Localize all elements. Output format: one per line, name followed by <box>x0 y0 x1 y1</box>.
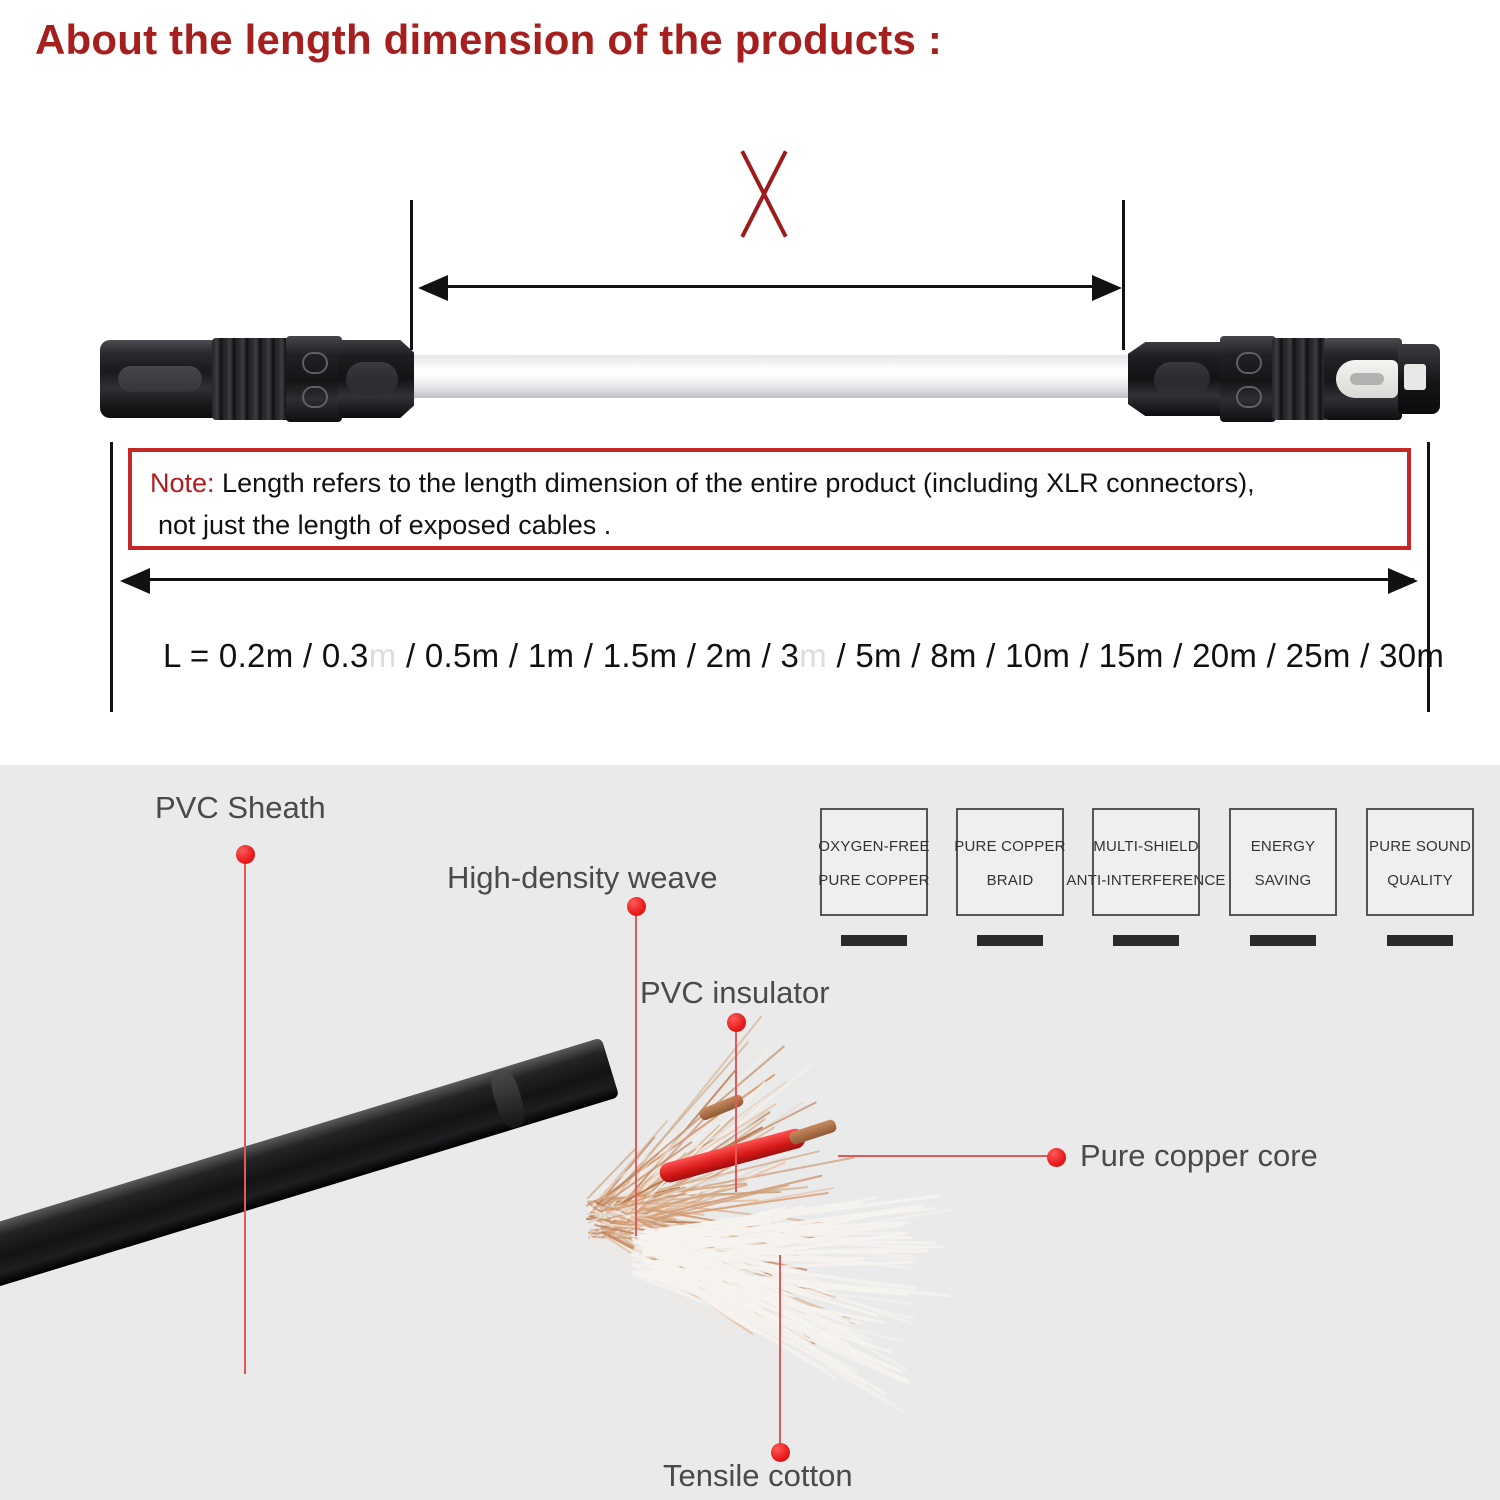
total-measure-arrow-line <box>128 578 1414 581</box>
xlr-male-connector <box>100 334 410 424</box>
note-line-1-text: Length refers to the length dimension of… <box>215 468 1255 498</box>
badge-line-2: PURE COPPER <box>818 872 929 889</box>
cable-body <box>395 355 1155 398</box>
pvc-jacket <box>0 1038 619 1296</box>
feature-badge-1: OXYGEN-FREEPURE COPPER <box>820 808 928 916</box>
badge-line-1: OXYGEN-FREE <box>818 838 929 855</box>
inner-measure-arrow-line <box>424 285 1110 288</box>
callout-label-tensile-cotton: Tensile cotton <box>663 1458 853 1494</box>
callout-label-high-density-weave: High-density weave <box>447 860 718 896</box>
callout-dot-pvc-sheath <box>236 845 255 864</box>
callout-line-pvc-insulator <box>735 1022 737 1192</box>
badge-line-2: ANTI-INTERFERENCE <box>1066 872 1225 889</box>
page-title: About the length dimension of the produc… <box>35 16 942 64</box>
callout-label-pvc-sheath: PVC Sheath <box>155 790 326 826</box>
infographic-page: About the length dimension of the produc… <box>0 0 1500 1500</box>
inner-measure-arrowhead-right <box>1092 275 1122 301</box>
note-line-2: not just the length of exposed cables . <box>158 510 611 541</box>
callout-label-pure-copper-core: Pure copper core <box>1080 1138 1318 1174</box>
total-measure-arrowhead-left <box>120 568 150 594</box>
badge-underline-5 <box>1387 935 1453 946</box>
badge-line-2: SAVING <box>1255 872 1312 889</box>
badge-line-2: QUALITY <box>1387 872 1453 889</box>
badge-line-2: BRAID <box>987 872 1034 889</box>
feature-badge-3: MULTI-SHIELDANTI-INTERFERENCE <box>1092 808 1200 916</box>
callout-line-high-density-weave <box>635 906 637 1236</box>
badge-underline-3 <box>1113 935 1179 946</box>
badge-underline-1 <box>841 935 907 946</box>
callout-line-pvc-sheath <box>244 854 246 1374</box>
xlr-female-connector <box>1128 334 1438 424</box>
callout-label-pvc-insulator: PVC insulator <box>640 975 830 1011</box>
outer-tick-left <box>110 442 113 712</box>
feature-badge-4: ENERGYSAVING <box>1229 808 1337 916</box>
cable-structure-section: PVC SheathHigh-density weavePVC insulato… <box>0 765 1500 1500</box>
callout-line-pure-copper-core <box>838 1155 1048 1157</box>
callout-dot-pure-copper-core <box>1047 1148 1066 1167</box>
length-dimension-section: About the length dimension of the produc… <box>0 0 1500 765</box>
badge-underline-2 <box>977 935 1043 946</box>
badge-underline-4 <box>1250 935 1316 946</box>
total-measure-arrowhead-right <box>1388 568 1418 594</box>
feature-badge-2: PURE COPPERBRAID <box>956 808 1064 916</box>
feature-badge-5: PURE SOUNDQUALITY <box>1366 808 1474 916</box>
badge-line-1: MULTI-SHIELD <box>1093 838 1198 855</box>
badge-line-1: ENERGY <box>1251 838 1316 855</box>
badge-line-1: PURE SOUND <box>1369 838 1471 855</box>
inner-tick-left <box>410 200 413 350</box>
callout-dot-high-density-weave <box>627 897 646 916</box>
inner-measure-arrowhead-left <box>418 275 448 301</box>
callout-line-tensile-cotton <box>779 1255 781 1445</box>
note-keyword: Note: <box>150 468 215 498</box>
inner-tick-right <box>1122 200 1125 350</box>
note-box: Note: Length refers to the length dimens… <box>128 448 1411 550</box>
cross-out-icon <box>718 148 808 240</box>
callout-dot-pvc-insulator <box>727 1013 746 1032</box>
badge-line-1: PURE COPPER <box>954 838 1065 855</box>
note-line-1: Note: Length refers to the length dimens… <box>150 468 1255 499</box>
length-options-text: L = 0.2m / 0.3m / 0.5m / 1m / 1.5m / 2m … <box>163 637 1444 675</box>
